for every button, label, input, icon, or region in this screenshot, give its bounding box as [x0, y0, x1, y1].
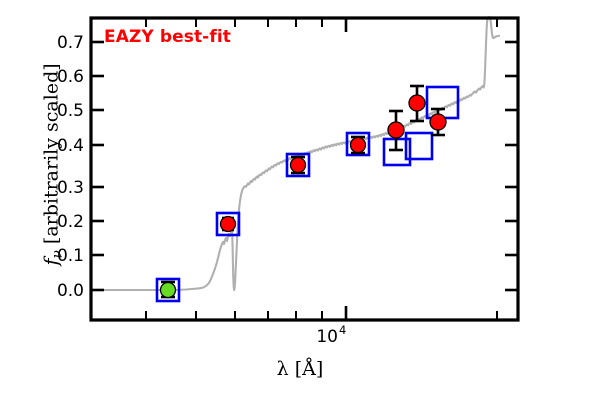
y-axis-label-units: [arbitrarily scaled]: [41, 63, 63, 250]
x-ticklabel-exponent: 4: [339, 323, 346, 337]
observed-flux-marker: [161, 283, 176, 298]
y-axis-label-f: f: [41, 258, 63, 265]
x-ticklabel-group: 10 4: [316, 323, 346, 347]
x-ticklabel-mantissa: 10: [316, 327, 338, 347]
observed-flux-marker: [291, 158, 306, 173]
observed-photometry-group: [161, 86, 447, 298]
x-axis-label: λ [Å]: [0, 358, 600, 380]
plot-canvas: 0.0 0.1 0.2 0.3 0.4 0.5 0.6 0.7 10 4: [0, 0, 600, 400]
observed-flux-marker: [388, 122, 404, 138]
y-axis-label: fν [arbitrarily scaled]: [41, 39, 66, 289]
data-point-4: [351, 137, 366, 153]
data-point-2: [221, 217, 236, 232]
data-point-1: [161, 282, 176, 298]
eazy-best-fit-annotation: EAZY best-fit: [104, 27, 231, 47]
eazy-sed-figure: 0.0 0.1 0.2 0.3 0.4 0.5 0.6 0.7 10 4 EAZ…: [0, 0, 600, 400]
observed-flux-marker: [409, 95, 425, 111]
observed-flux-marker: [221, 217, 236, 232]
data-point-5: [388, 111, 404, 150]
y-axis-label-nu: ν: [49, 250, 65, 258]
observed-flux-marker: [430, 114, 446, 130]
x-tick-group: [146, 18, 497, 320]
data-point-6: [409, 86, 425, 121]
observed-flux-marker: [351, 138, 366, 153]
model-photometry-group: [157, 87, 458, 301]
data-point-3: [291, 157, 306, 173]
